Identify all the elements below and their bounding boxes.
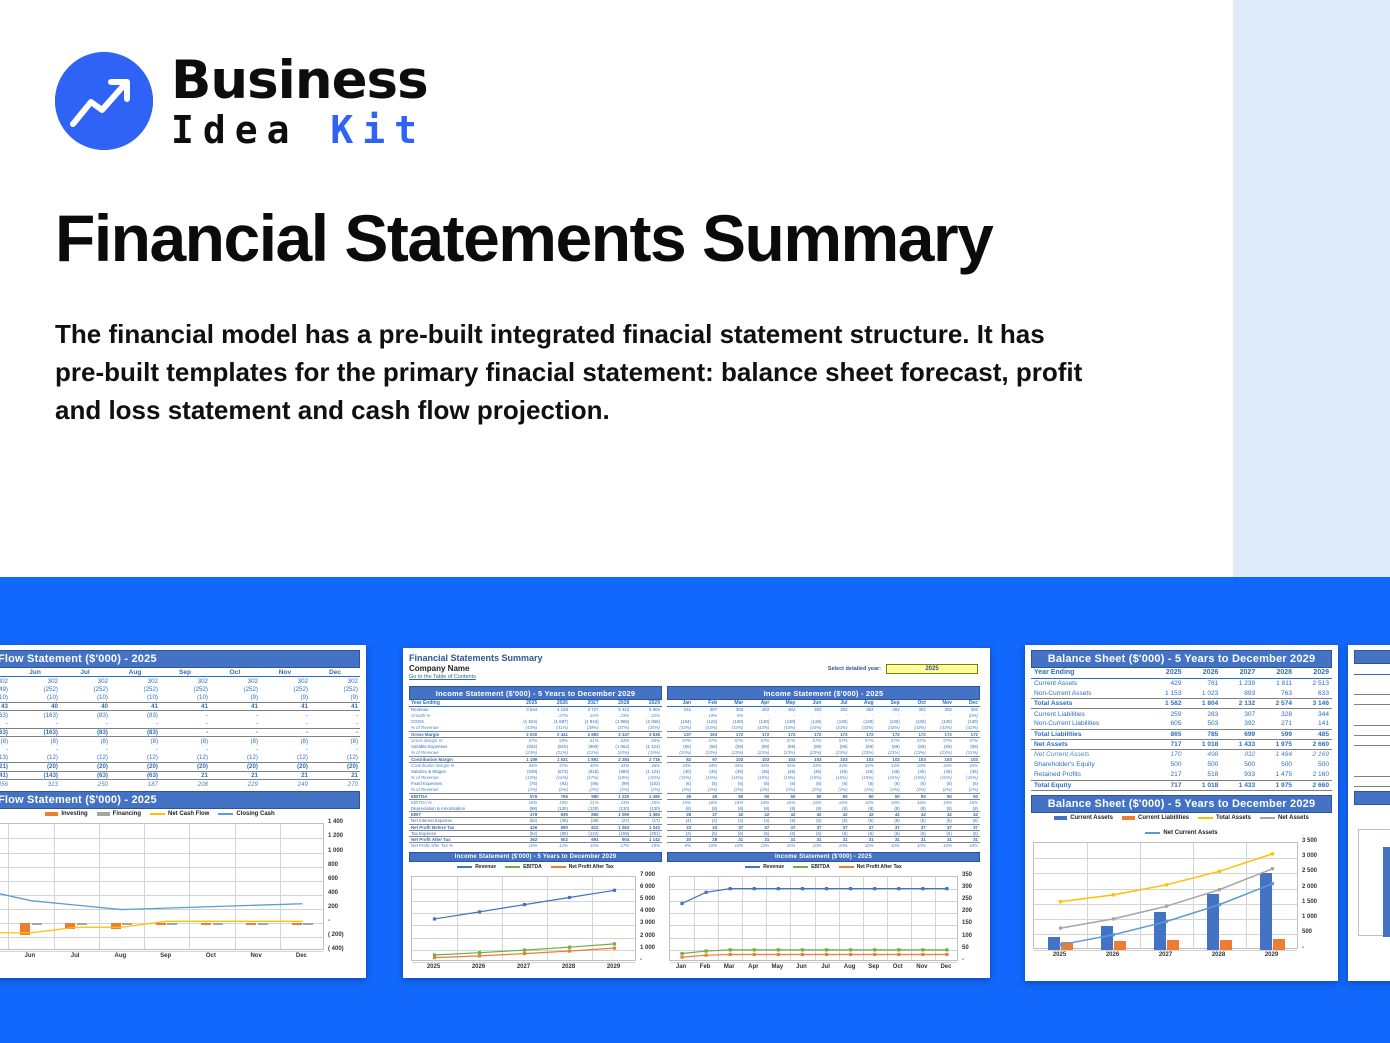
- cell-value: 429: [1148, 678, 1185, 688]
- legend-item: EBITDA: [793, 864, 830, 870]
- x-axis-tick-label: Jul: [814, 964, 838, 970]
- financial-summary-panel[interactable]: Financial Statements Summary Company Nam…: [403, 648, 990, 978]
- table-row: (10)(10)(10)(10)(10)(9)(9)(9): [0, 694, 360, 703]
- cell-value: (63): [60, 771, 110, 780]
- cell-value: 10%: [771, 843, 797, 849]
- column-header: 2027: [1221, 668, 1258, 678]
- x-axis-tick-label: 2028: [1192, 952, 1245, 958]
- row-label: Net Current Assets: [1031, 750, 1148, 760]
- year-selector-input[interactable]: 2025: [886, 664, 978, 674]
- cell-value: (9): [210, 694, 260, 703]
- cell-value: (252): [310, 685, 360, 694]
- legend-item: Net Profit After Tax: [839, 864, 902, 870]
- cell-value: 93: [1354, 705, 1390, 715]
- cell-value: 217: [1148, 770, 1185, 780]
- y-axis-tick-label: 400: [328, 890, 360, 896]
- cell-value: 500: [1185, 760, 1222, 770]
- y-axis-tick-label: 3 500: [1302, 838, 1332, 844]
- year-selector[interactable]: Select detailed year: 2025: [828, 664, 978, 674]
- cell-value: -: [210, 728, 260, 737]
- y-axis-tick-label: 6 000: [640, 884, 662, 890]
- cell-value: 21: [160, 771, 210, 780]
- table-row: Total Liabilities865785699599485: [1031, 729, 1332, 739]
- table-row: 786: [1354, 725, 1390, 735]
- column-header: 2025: [1148, 668, 1185, 678]
- x-axis-tick-label: 2029: [591, 964, 636, 970]
- cell-value: (12): [60, 754, 110, 763]
- cell-value: (83): [110, 728, 160, 737]
- y-axis-tick-label: 5 000: [640, 896, 662, 902]
- cell-value: -: [160, 728, 210, 737]
- y-axis-tick-label: 4 000: [640, 908, 662, 914]
- legend-item: Net Profit After Tax: [551, 864, 614, 870]
- legend-item: Net Current Assets: [1145, 830, 1217, 836]
- cell-value: -: [260, 745, 310, 754]
- cell-value: 43: [0, 702, 10, 711]
- cell-value: (12): [10, 754, 60, 763]
- table-row: Total Equity7171 0181 4331 9752 660: [1031, 780, 1332, 790]
- cell-value: (20): [10, 763, 60, 772]
- legend-label: Financing: [113, 811, 141, 817]
- column-header: Aug: [110, 668, 160, 677]
- monthly-is-chart-legend: RevenueEBITDANet Profit After Tax: [667, 862, 980, 872]
- cell-value: 717: [1148, 780, 1185, 790]
- cell-value: (163): [0, 711, 10, 720]
- x-axis-tick-label: Apr: [741, 964, 765, 970]
- balance-sheet-table-title: Balance Sheet ($'000) - 5 Years to Decem…: [1031, 650, 1332, 668]
- column-header: Dec: [310, 668, 360, 677]
- table-row: 512: [1354, 735, 1390, 745]
- annual-is-title: Income Statement ($'000) - 5 Years to De…: [409, 686, 662, 700]
- cell-value: 302: [160, 677, 210, 686]
- cell-value: 10%: [823, 843, 849, 849]
- y-axis-tick-label: 100: [962, 933, 980, 939]
- column-header: Nov: [260, 668, 310, 677]
- cell-value: 283: [1185, 709, 1222, 719]
- table-row: (141)(143)(63)(63)21212121: [0, 771, 360, 780]
- table-row: Depreciation & Amortisation(98)(130)(130…: [409, 806, 662, 812]
- legend-item: Closing Cash: [218, 811, 274, 817]
- cell-value: (20): [160, 763, 210, 772]
- cell-value: -: [160, 745, 210, 754]
- legend-swatch: [793, 866, 808, 868]
- cell-value: 933: [1221, 770, 1258, 780]
- cell-value: 1 484: [1258, 750, 1295, 760]
- cell-value: 456: [0, 780, 10, 789]
- cell-value: (21): [0, 763, 10, 772]
- table-row: Retained Profits2175189331 4752 160: [1031, 770, 1332, 780]
- y-axis-tick-label: 300: [962, 884, 980, 890]
- cell-value: 1 975: [1258, 739, 1295, 749]
- cell-value: (83): [60, 728, 110, 737]
- table-row: 1 081: [1354, 746, 1390, 756]
- cell-value: 1 239: [1221, 678, 1258, 688]
- cell-value: 500: [1354, 756, 1390, 766]
- cell-value: (252): [60, 685, 110, 694]
- cell-value: (9): [310, 694, 360, 703]
- cell-value: 2 160: [1295, 770, 1332, 780]
- cell-value: (8): [210, 737, 260, 746]
- column-header: 2026: [1185, 668, 1222, 678]
- cell-value: (10): [60, 694, 110, 703]
- cell-value: (12): [260, 754, 310, 763]
- cell-value: 633: [1295, 688, 1332, 698]
- legend-swatch: [745, 866, 760, 868]
- table-row: 93: [1354, 705, 1390, 715]
- cell-value: (20): [310, 763, 360, 772]
- gridline: [1034, 950, 1297, 951]
- row-label: Current Assets: [1031, 678, 1148, 688]
- cell-value: (8): [310, 737, 360, 746]
- table-header-row: MayJunJulAugSepOctNovDec: [0, 668, 360, 677]
- row-label: Non-Current Liabilities: [1031, 719, 1148, 729]
- page-title: Financial Statements Summary: [55, 200, 1175, 276]
- y-axis-tick-label: -: [328, 918, 360, 924]
- cell-value: -: [210, 711, 260, 720]
- legend-swatch: [1145, 832, 1160, 834]
- cell-value: (8): [110, 737, 160, 746]
- balance-sheet-chart-legend: Current AssetsCurrent LiabilitiesTotal A…: [1031, 813, 1332, 838]
- y-axis-tick-label: 1 000: [640, 945, 662, 951]
- cell-value: -: [310, 711, 360, 720]
- x-axis-tick-label: Aug: [838, 964, 862, 970]
- row-label: Total Assets: [1031, 699, 1148, 709]
- cell-value: (20): [260, 763, 310, 772]
- x-axis-tick-label: Nov: [910, 964, 934, 970]
- cell-value: 392: [1221, 719, 1258, 729]
- table-row: 302302302302302302302302: [0, 677, 360, 686]
- x-axis-tick-label: Aug: [98, 953, 143, 959]
- cell-value: 865: [1148, 729, 1185, 739]
- table-row: Net Assets7171 0181 4331 9752 660: [1031, 739, 1332, 749]
- table-row: (21)(20)(20)(20)(20)(20)(20)(20): [0, 763, 360, 772]
- cell-value: 1 023: [1185, 688, 1222, 698]
- cell-value: 313: [10, 780, 60, 789]
- page-description: The financial model has a pre-built inte…: [55, 316, 1085, 430]
- cell-value: 3 146: [1295, 699, 1332, 709]
- y-axis-tick-label: 50: [962, 945, 980, 951]
- cell-value: -: [160, 711, 210, 720]
- cell-value: 500: [1258, 760, 1295, 770]
- cell-value: (8): [0, 737, 10, 746]
- annual-is-chart-title: Income Statement ($'000) - 5 Years to De…: [409, 852, 662, 862]
- y-axis-tick-label: 2 000: [640, 933, 662, 939]
- cell-value: -: [110, 720, 160, 729]
- gridline: [670, 962, 957, 963]
- cell-value: 1 153: [1148, 688, 1185, 698]
- cell-value: 41: [260, 702, 310, 711]
- column-header: Jan: [1354, 664, 1390, 674]
- chart-plot-area: [0, 823, 324, 950]
- chart-lines: [412, 877, 637, 962]
- cell-value: -: [60, 720, 110, 729]
- cell-value: 21: [310, 771, 360, 780]
- y-axis-tick-label: 600: [328, 876, 360, 882]
- chart-plot-area: [411, 876, 636, 961]
- y-axis-tick-label: 350: [962, 872, 980, 878]
- chart-lines: [0, 824, 325, 951]
- legend-swatch: [839, 866, 854, 868]
- cell-value: 271: [1258, 719, 1295, 729]
- brand-name-secondary: Idea Kit: [171, 111, 428, 149]
- table-header-row: Year Ending20252026202720282029: [1031, 668, 1332, 678]
- legend-label: Net Profit After Tax: [857, 864, 902, 870]
- x-axis-tick-label: 2025: [1033, 952, 1086, 958]
- x-axis-tick-label: 2026: [1086, 952, 1139, 958]
- cash-flow-table-title: Cash Flow Statement ($'000) - 2025: [0, 650, 360, 668]
- cell-value: (8): [160, 737, 210, 746]
- y-axis-tick-label: 200: [962, 908, 980, 914]
- cell-value: -: [0, 745, 10, 754]
- cell-value: 124: [1354, 684, 1390, 694]
- annual-is-chart-legend: RevenueEBITDANet Profit After Tax: [409, 862, 662, 872]
- y-axis-tick-label: 1 000: [1302, 914, 1332, 920]
- balance-sheet-monthly-panel[interactable]: Jan1 1741241 297936927865121 08150012512…: [1348, 645, 1390, 981]
- legend-item: Net Cash Flow: [150, 811, 209, 817]
- cell-value: 498: [1185, 750, 1222, 760]
- x-axis-tick-label: Mar: [717, 964, 741, 970]
- legend-label: EBITDA: [811, 864, 830, 870]
- cell-value: 302: [10, 677, 60, 686]
- legend-label: Net Current Assets: [1163, 830, 1217, 836]
- year-selector-label: Select detailed year:: [828, 666, 881, 672]
- cell-value: 12%: [539, 843, 570, 849]
- y-axis-tick-label: 1 200: [328, 833, 360, 839]
- cell-value: (10): [10, 694, 60, 703]
- chart-lines: [1359, 830, 1390, 937]
- y-axis-tick-label: ( 200): [328, 932, 360, 938]
- balance-sheet-table: Year Ending20252026202720282029Current A…: [1031, 668, 1332, 791]
- cell-value: 717: [1148, 739, 1185, 749]
- cell-value: -: [310, 720, 360, 729]
- cell-value: 692: [1354, 715, 1390, 725]
- cell-value: (8): [260, 737, 310, 746]
- table-row: 456313250187208229249270: [0, 780, 360, 789]
- cell-value: 41: [210, 702, 260, 711]
- table-row: Net Profit After Tax3625026919041 142: [409, 836, 662, 842]
- cell-value: 2 513: [1295, 678, 1332, 688]
- table-row: Net Interest Expense(52)(45)(38)(27)(17): [409, 818, 662, 824]
- cell-value: -: [10, 720, 60, 729]
- cash-flow-panel[interactable]: Cash Flow Statement ($'000) - 2025 MayJu…: [0, 645, 366, 978]
- cell-value: 302: [310, 677, 360, 686]
- cell-value: 10%: [876, 843, 902, 849]
- row-label: Retained Profits: [1031, 770, 1148, 780]
- cell-value: 10%: [509, 843, 540, 849]
- column-header: Jul: [60, 668, 110, 677]
- gridline: [0, 951, 323, 952]
- bs-monthly-chart-title-bar: [1354, 791, 1390, 805]
- x-axis-tick-label: Jun: [789, 964, 813, 970]
- cell-value: 302: [0, 677, 10, 686]
- table-row: (163)(163)(83)(83)----: [0, 711, 360, 720]
- table-row: Contribution Margin1 1891 5311 8912 2842…: [409, 756, 662, 762]
- legend-swatch: [218, 813, 233, 815]
- legend-swatch: [1122, 816, 1135, 820]
- cell-value: -: [260, 720, 310, 729]
- legend-swatch: [1198, 817, 1213, 819]
- balance-sheet-chart: 3 5003 0002 5002 0001 5001 000500-202520…: [1031, 838, 1332, 963]
- table-row: (163)(163)(83)(83)----: [0, 728, 360, 737]
- x-axis-tick-label: 2026: [456, 964, 501, 970]
- cell-value: 2 132: [1221, 699, 1258, 709]
- row-label: Non-Current Assets: [1031, 688, 1148, 698]
- cell-value: 518: [1185, 770, 1222, 780]
- legend-item: Investing: [45, 811, 87, 817]
- cell-value: 599: [1258, 729, 1295, 739]
- x-axis-tick-label: Feb: [693, 964, 717, 970]
- x-axis-tick-label: 2027: [1139, 952, 1192, 958]
- y-axis-tick-label: 800: [328, 862, 360, 868]
- legend-item: Financing: [97, 811, 141, 817]
- row-label: Shareholder's Equity: [1031, 760, 1148, 770]
- legend-swatch: [1054, 816, 1067, 820]
- y-axis-tick-label: 200: [328, 904, 360, 910]
- cell-value: 2 574: [1258, 699, 1295, 709]
- cell-value: 15%: [570, 843, 601, 849]
- y-axis-tick-label: -: [640, 957, 662, 963]
- cell-value: (252): [210, 685, 260, 694]
- cell-value: (163): [10, 728, 60, 737]
- cell-value: 1 811: [1258, 678, 1295, 688]
- x-axis-tick-label: Nov: [234, 953, 279, 959]
- y-axis-tick-label: ( 400): [328, 946, 360, 952]
- cell-value: 1 433: [1221, 739, 1258, 749]
- cell-value: 41: [160, 702, 210, 711]
- cell-value: 19%: [631, 843, 662, 849]
- row-label: Total Liabilities: [1031, 729, 1148, 739]
- x-axis-tick-label: Jul: [53, 953, 98, 959]
- cell-value: 40: [10, 702, 60, 711]
- table-row: 512: [1354, 776, 1390, 786]
- cell-value: 302: [260, 677, 310, 686]
- chart-plot-area: [1033, 842, 1298, 949]
- legend-swatch: [45, 812, 58, 816]
- cell-value: 141: [1295, 719, 1332, 729]
- cell-value: 21: [210, 771, 260, 780]
- table-row: 12: [1354, 766, 1390, 776]
- cell-value: 503: [1185, 719, 1222, 729]
- x-axis-tick-label: Jun: [7, 953, 52, 959]
- legend-item: Total Assets: [1198, 815, 1251, 821]
- cell-value: (8): [10, 737, 60, 746]
- chart-plot-area: [1358, 829, 1390, 936]
- cell-value: -: [60, 745, 110, 754]
- balance-sheet-panel[interactable]: Balance Sheet ($'000) - 5 Years to Decem…: [1025, 645, 1338, 981]
- chart-lines: [1034, 843, 1299, 950]
- cell-value: (13): [0, 754, 10, 763]
- cell-value: (10): [0, 694, 10, 703]
- cell-value: 259: [1148, 709, 1185, 719]
- legend-label: Net Assets: [1278, 815, 1309, 821]
- legend-label: Total Assets: [1216, 815, 1251, 821]
- y-axis-tick-label: 500: [1302, 929, 1332, 935]
- cell-value: 10%: [850, 843, 876, 849]
- cell-value: 2 660: [1295, 739, 1332, 749]
- cell-value: 208: [160, 780, 210, 789]
- table-of-contents-link[interactable]: Go to the Table of Contents: [409, 674, 984, 680]
- cell-value: 21: [260, 771, 310, 780]
- y-axis-tick-label: 1 000: [328, 848, 360, 854]
- cell-value: (10): [160, 694, 210, 703]
- balance-sheet-chart-title: Balance Sheet ($'000) - 5 Years to Decem…: [1031, 795, 1332, 813]
- y-axis-tick-label: -: [962, 957, 980, 963]
- cell-value: 302: [60, 677, 110, 686]
- chart-plot-area: [669, 876, 958, 961]
- legend-label: Revenue: [475, 864, 496, 870]
- legend-item: EBITDA: [505, 864, 542, 870]
- cell-value: 605: [1148, 719, 1185, 729]
- cell-value: 344: [1295, 709, 1332, 719]
- cell-value: 10%: [693, 843, 719, 849]
- legend-swatch: [505, 866, 520, 868]
- cell-value: (12): [210, 754, 260, 763]
- cell-value: 1 433: [1221, 780, 1258, 790]
- table-row: --------: [0, 745, 360, 754]
- table-row: (8)(8)(8)(8)(8)(8)(8)(8): [0, 737, 360, 746]
- y-axis-tick-label: 7 000: [640, 872, 662, 878]
- brand-logo: Business Idea Kit: [55, 52, 428, 150]
- x-axis-tick-label: Oct: [886, 964, 910, 970]
- table-row: Net Current Assets1704989321 4842 169: [1031, 750, 1332, 760]
- table-row: Non-Current Assets1 1531 023893763633: [1031, 688, 1332, 698]
- y-axis-tick-label: 3 000: [1302, 853, 1332, 859]
- cell-value: 1 018: [1185, 739, 1222, 749]
- cell-value: 41: [110, 702, 160, 711]
- legend-label: Investing: [61, 811, 87, 817]
- cell-value: 328: [1258, 709, 1295, 719]
- y-axis-tick-label: 1 500: [1302, 899, 1332, 905]
- x-axis-tick-label: 2029: [1245, 952, 1298, 958]
- cell-value: (252): [110, 685, 160, 694]
- cell-value: -: [0, 720, 10, 729]
- cell-value: -: [260, 711, 310, 720]
- cell-value: 512: [1354, 776, 1390, 786]
- table-row: 500: [1354, 756, 1390, 766]
- cell-value: (10): [110, 694, 160, 703]
- cell-value: -: [260, 728, 310, 737]
- table-row: 1 174: [1354, 674, 1390, 684]
- summary-title: Financial Statements Summary: [409, 653, 984, 663]
- cell-value: (12): [110, 754, 160, 763]
- column-header: 2029: [1295, 668, 1332, 678]
- x-axis-tick-label: Oct: [188, 953, 233, 959]
- cell-value: 10%: [797, 843, 823, 849]
- cell-value: (252): [10, 685, 60, 694]
- cell-value: -: [210, 720, 260, 729]
- table-row: Current Liabilities259283307328344: [1031, 709, 1332, 719]
- y-axis-tick-label: 1 400: [328, 819, 360, 825]
- legend-label: Net Profit After Tax: [569, 864, 614, 870]
- bs-monthly-title-bar: [1354, 650, 1390, 664]
- cell-value: (20): [110, 763, 160, 772]
- annual-income-chart: 7 0006 0005 0004 0003 0002 0001 000-2025…: [409, 872, 662, 975]
- cell-value: 485: [1295, 729, 1332, 739]
- gridline: [412, 962, 635, 963]
- x-axis-tick-label: 2027: [501, 964, 546, 970]
- balance-sheet-monthly-chart: Jan: [1354, 825, 1390, 950]
- cell-value: (83): [110, 711, 160, 720]
- monthly-is-title: Income Statement ($'000) - 2025: [667, 686, 980, 700]
- cell-value: 2 169: [1295, 750, 1332, 760]
- cell-value: (20): [210, 763, 260, 772]
- cell-value: (63): [110, 771, 160, 780]
- cell-value: 500: [1221, 760, 1258, 770]
- annual-income-statement-table: Year Ending20252026202720282029Revenue3 …: [409, 700, 662, 849]
- column-header: Oct: [210, 668, 260, 677]
- legend-item: Current Assets: [1054, 815, 1113, 821]
- brand-name-primary: Business: [171, 54, 428, 107]
